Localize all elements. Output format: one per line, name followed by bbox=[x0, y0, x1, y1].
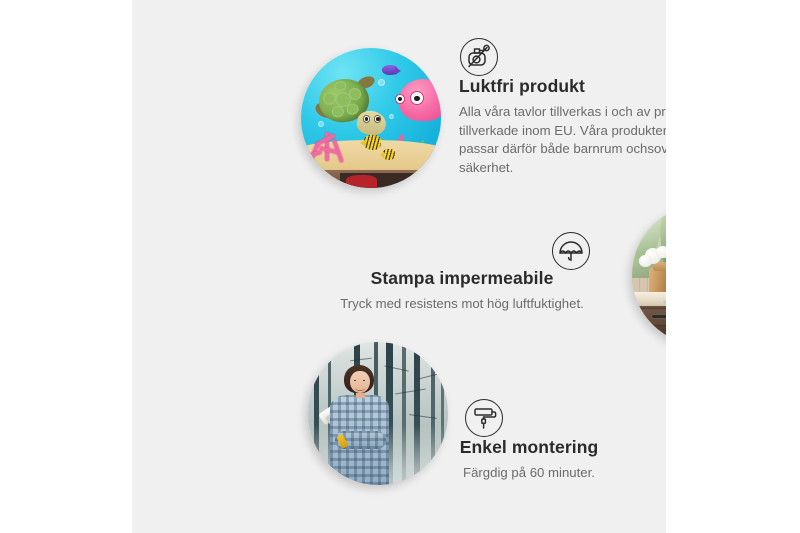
feature-heading-easy-installation: Enkel montering bbox=[409, 437, 649, 459]
wood-vanity-cabinet bbox=[632, 306, 666, 345]
feature-block-odour-free: Luktfri produkt Alla våra tavlor tillver… bbox=[459, 76, 666, 178]
purple-fish-tail bbox=[395, 67, 401, 75]
feature-panel: Luktfri produkt Alla våra tavlor tillver… bbox=[132, 0, 666, 533]
white-flower bbox=[656, 246, 666, 259]
red-wreck-detail bbox=[346, 175, 377, 188]
drawer-pull bbox=[652, 315, 666, 318]
bathroom-scene bbox=[632, 205, 666, 345]
promo-graphic: Luktfri produkt Alla våra tavlor tillver… bbox=[0, 0, 800, 533]
octopus-pupil-large bbox=[414, 96, 420, 102]
turtle-scute bbox=[323, 92, 337, 105]
paint-roller-icon bbox=[465, 399, 503, 437]
umbrella-icon bbox=[552, 232, 590, 270]
feature-body-odour-free: Alla våra tavlor tillverkas i och av pro… bbox=[459, 103, 666, 178]
yellow-fish-large-tail bbox=[360, 139, 366, 147]
feature-heading-waterproof-print: Stampa impermeabile bbox=[322, 268, 602, 290]
yellow-fish-small-tail bbox=[380, 152, 384, 158]
feature-body-easy-installation: Färgdig på 60 minuter. bbox=[409, 464, 649, 483]
turtle-scute bbox=[334, 80, 348, 91]
bubble-2 bbox=[318, 121, 324, 127]
feature-heading-odour-free: Luktfri produkt bbox=[459, 76, 666, 98]
white-flower bbox=[639, 255, 652, 266]
bathroom-vanity-mural-thumbnail bbox=[632, 205, 666, 345]
octopus-pupil-small bbox=[398, 97, 402, 101]
feature-body-waterproof-print: Tryck med resistens mot hög luftfuktighe… bbox=[322, 295, 602, 314]
underwater-scene bbox=[301, 48, 441, 188]
no-fragrance-icon bbox=[460, 38, 498, 76]
pink-coral bbox=[307, 129, 352, 171]
turtle-scute bbox=[331, 105, 345, 118]
woman-smile bbox=[355, 386, 365, 391]
underwater-kids-mural-thumbnail bbox=[301, 48, 441, 188]
feature-block-easy-installation: Enkel montering Färgdig på 60 minuter. bbox=[409, 437, 649, 483]
feature-block-waterproof-print: Stampa impermeabile Tryck med resistens … bbox=[322, 268, 602, 314]
turtle-scute bbox=[346, 102, 360, 115]
bubble-3 bbox=[378, 79, 385, 86]
turtle-scute bbox=[349, 87, 363, 100]
